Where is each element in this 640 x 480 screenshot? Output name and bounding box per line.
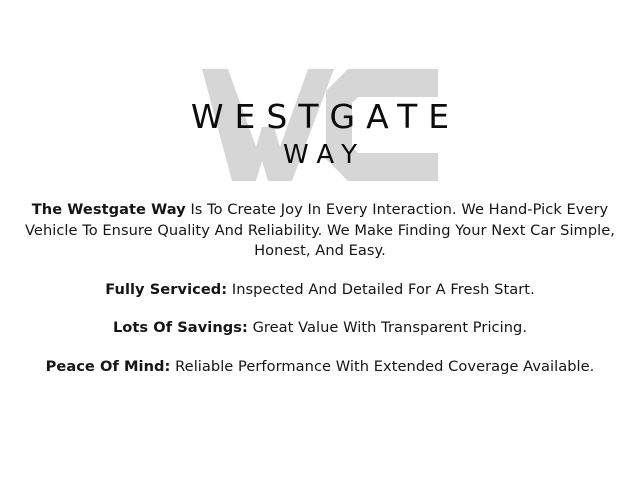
promo-panel: WESTGATE WAY The Westgate Way Is To Crea… (0, 0, 640, 480)
feature-rest: Reliable Performance With Extended Cover… (170, 358, 594, 375)
brand-logo: WESTGATE WAY (0, 55, 640, 180)
wordmark-line-westgate: WESTGATE (0, 95, 640, 139)
feature-rest: Inspected And Detailed For A Fresh Start… (227, 281, 535, 298)
wordmark: WESTGATE WAY (0, 55, 640, 171)
intro-lead: The Westgate Way (32, 201, 186, 218)
feature-lead: Peace Of Mind: (46, 358, 171, 375)
feature-item: Fully Serviced: Inspected And Detailed F… (18, 280, 622, 301)
intro-paragraph: The Westgate Way Is To Create Joy In Eve… (18, 200, 622, 262)
feature-lead: Lots Of Savings: (113, 319, 248, 336)
feature-item: Lots Of Savings: Great Value With Transp… (18, 318, 622, 339)
wordmark-line-way: WAY (0, 139, 640, 171)
feature-rest: Great Value With Transparent Pricing. (248, 319, 527, 336)
feature-item: Peace Of Mind: Reliable Performance With… (18, 357, 622, 378)
body-copy: The Westgate Way Is To Create Joy In Eve… (18, 200, 622, 395)
feature-lead: Fully Serviced: (105, 281, 227, 298)
